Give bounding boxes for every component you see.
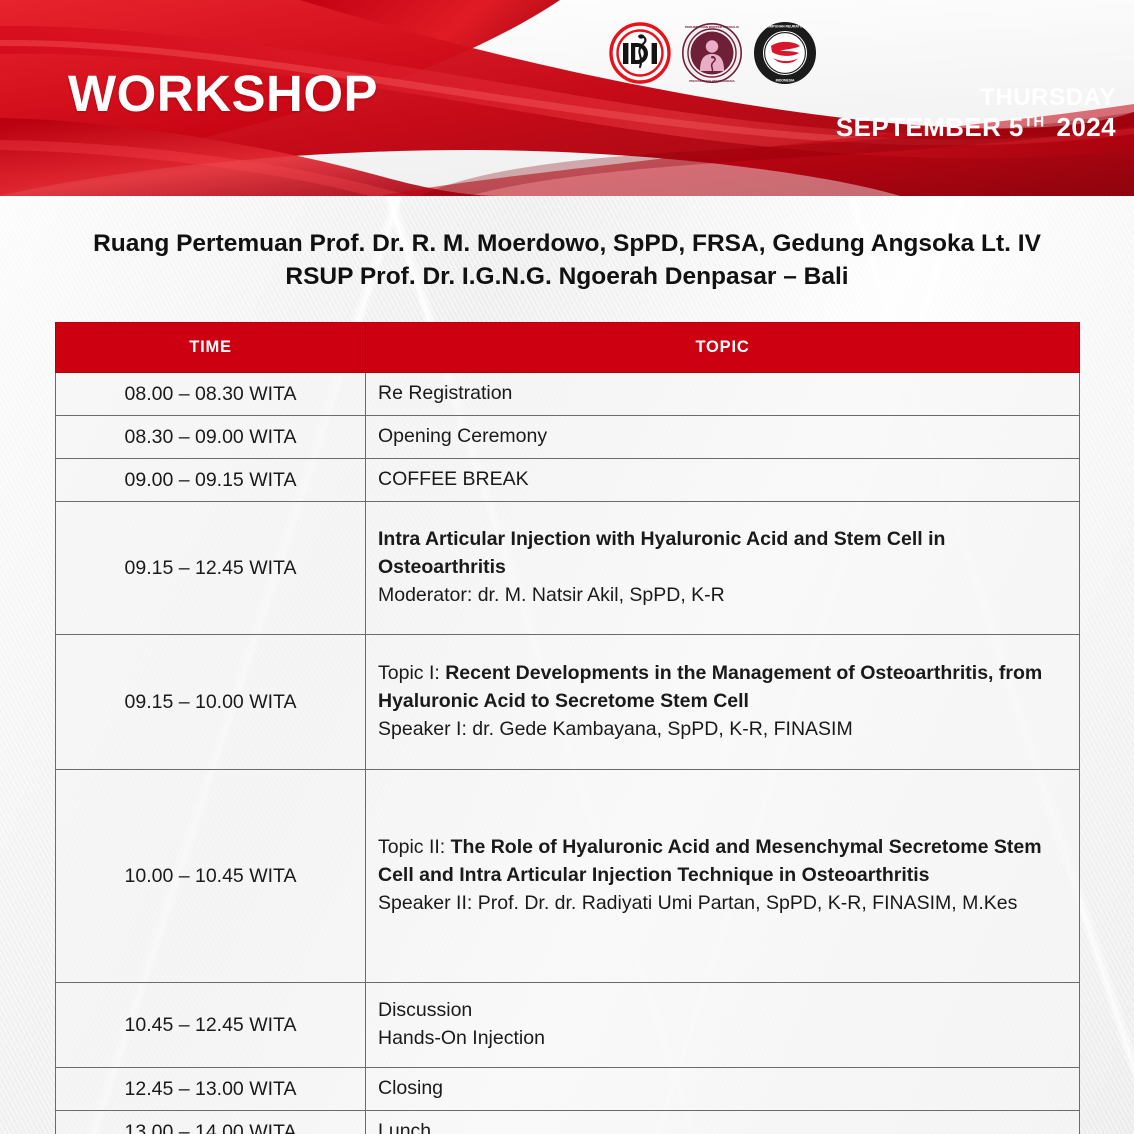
svg-text:PERHIMPUNAN DOKTER SPESIALIS: PERHIMPUNAN DOKTER SPESIALIS [685,25,739,29]
topic-line: Speaker I: dr. Gede Kambayana, SpPD, K-R… [378,716,1071,744]
table-row: 08.30 – 09.00 WITAOpening Ceremony [56,416,1080,459]
event-full-date: SEPTEMBER 5TH2024 [836,112,1116,143]
table-row: 09.15 – 12.45 WITAIntra Articular Inject… [56,502,1080,635]
header-banner: WORKSHOP THURSDAY SEPTEMBER 5TH2024 [0,0,1134,196]
column-header-topic: TOPIC [366,323,1080,373]
poster-page: WORKSHOP THURSDAY SEPTEMBER 5TH2024 [0,0,1134,1134]
papdi-logo: PERHIMPUNAN DOKTER SPESIALIS PENYAKIT DA… [680,21,744,85]
cell-time: 09.00 – 09.15 WITA [56,459,366,502]
venue-line-2: RSUP Prof. Dr. I.G.N.G. Ngoerah Denpasar… [40,261,1094,294]
cell-topic: Topic II: The Role of Hyaluronic Acid an… [366,770,1080,983]
cell-time: 10.00 – 10.45 WITA [56,770,366,983]
cell-topic: Opening Ceremony [366,416,1080,459]
cell-topic: Intra Articular Injection with Hyaluroni… [366,502,1080,635]
agenda-table: TIME TOPIC 08.00 – 08.30 WITARe Registra… [55,322,1080,1134]
venue-address: Ruang Pertemuan Prof. Dr. R. M. Moerdowo… [40,228,1094,293]
topic-text: Re Registration [378,382,512,404]
cell-topic: Closing [366,1068,1080,1111]
cell-time: 09.15 – 10.00 WITA [56,635,366,770]
agenda-body: 08.00 – 08.30 WITARe Registration08.30 –… [56,373,1080,1134]
topic-line: Moderator: dr. M. Natsir Akil, SpPD, K-R [378,582,1071,610]
cell-topic: DiscussionHands-On Injection [366,983,1080,1068]
topic-line: Intra Articular Injection with Hyaluroni… [378,526,1071,581]
cell-time: 08.30 – 09.00 WITA [56,416,366,459]
topic-prefix: Topic II: [378,836,451,858]
table-row: 13.00 – 14.00 WITALunch [56,1111,1080,1134]
idi-logo [608,21,672,85]
ira-logo: PERHIMPUNAN REUMATOLOGI INDONESIA [752,20,818,86]
event-day: THURSDAY [836,84,1116,112]
topic-prefix: Topic I: [378,662,445,684]
svg-text:PERHIMPUNAN REUMATOLOGI: PERHIMPUNAN REUMATOLOGI [759,25,810,29]
topic-text: Discussion [378,999,472,1021]
event-date: THURSDAY SEPTEMBER 5TH2024 [836,84,1116,143]
cell-time: 13.00 – 14.00 WITA [56,1111,366,1134]
table-row: 10.45 – 12.45 WITADiscussionHands-On Inj… [56,983,1080,1068]
venue-line-1: Ruang Pertemuan Prof. Dr. R. M. Moerdowo… [40,228,1094,261]
topic-line: Opening Ceremony [378,423,1071,451]
topic-text: Recent Developments in the Management of… [378,662,1042,712]
page-title: WORKSHOP [68,68,378,119]
event-month-day: SEPTEMBER 5 [836,112,1024,142]
topic-text: The Role of Hyaluronic Acid and Mesenchy… [378,836,1042,886]
column-header-time: TIME [56,323,366,373]
topic-line: Speaker II: Prof. Dr. dr. Radiyati Umi P… [378,890,1071,918]
topic-line: Topic I: Recent Developments in the Mana… [378,660,1071,715]
topic-line: Re Registration [378,380,1071,408]
topic-line: Closing [378,1075,1071,1103]
topic-line: Lunch [378,1118,1071,1134]
organization-logos: PERHIMPUNAN DOKTER SPESIALIS PENYAKIT DA… [608,20,818,86]
ordinal-suffix: TH [1024,114,1045,131]
table-row: 12.45 – 13.00 WITAClosing [56,1068,1080,1111]
topic-text: Speaker II: Prof. Dr. dr. Radiyati Umi P… [378,892,1017,914]
topic-text: Lunch [378,1120,431,1134]
topic-line: Hands-On Injection [378,1025,1071,1053]
cell-topic: Re Registration [366,373,1080,416]
table-row: 08.00 – 08.30 WITARe Registration [56,373,1080,416]
topic-text: Intra Articular Injection with Hyaluroni… [378,528,945,578]
cell-time: 10.45 – 12.45 WITA [56,983,366,1068]
svg-text:INDONESIA: INDONESIA [776,79,795,83]
topic-line: COFFEE BREAK [378,466,1071,494]
cell-time: 08.00 – 08.30 WITA [56,373,366,416]
topic-line: Discussion [378,997,1071,1025]
event-year: 2024 [1057,112,1116,142]
table-row: 10.00 – 10.45 WITATopic II: The Role of … [56,770,1080,983]
topic-text: Moderator: dr. M. Natsir Akil, SpPD, K-R [378,584,725,606]
topic-line: Topic II: The Role of Hyaluronic Acid an… [378,834,1071,889]
cell-topic: Topic I: Recent Developments in the Mana… [366,635,1080,770]
topic-text: Speaker I: dr. Gede Kambayana, SpPD, K-R… [378,718,853,740]
topic-text: Hands-On Injection [378,1027,545,1049]
svg-text:PENYAKIT DALAM INDONESIA: PENYAKIT DALAM INDONESIA [689,79,735,83]
cell-topic: Lunch [366,1111,1080,1134]
table-row: 09.00 – 09.15 WITACOFFEE BREAK [56,459,1080,502]
table-header-row: TIME TOPIC [56,323,1080,373]
table-row: 09.15 – 10.00 WITATopic I: Recent Develo… [56,635,1080,770]
topic-text: COFFEE BREAK [378,468,529,490]
topic-text: Opening Ceremony [378,425,547,447]
cell-topic: COFFEE BREAK [366,459,1080,502]
cell-time: 12.45 – 13.00 WITA [56,1068,366,1111]
cell-time: 09.15 – 12.45 WITA [56,502,366,635]
topic-text: Closing [378,1077,443,1099]
